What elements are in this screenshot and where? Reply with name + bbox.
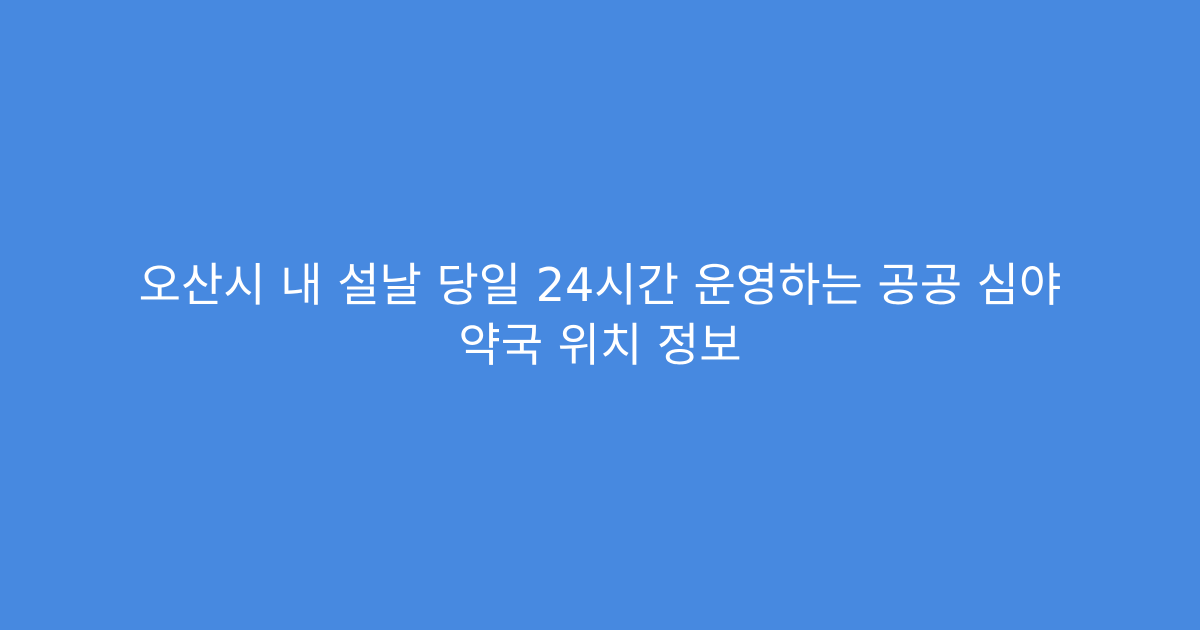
share-banner-card: 오산시 내 설날 당일 24시간 운영하는 공공 심야 약국 위치 정보: [0, 0, 1200, 630]
share-banner-content: 오산시 내 설날 당일 24시간 운영하는 공공 심야 약국 위치 정보: [72, 255, 1128, 375]
banner-title: 오산시 내 설날 당일 24시간 운영하는 공공 심야 약국 위치 정보: [90, 255, 1110, 375]
